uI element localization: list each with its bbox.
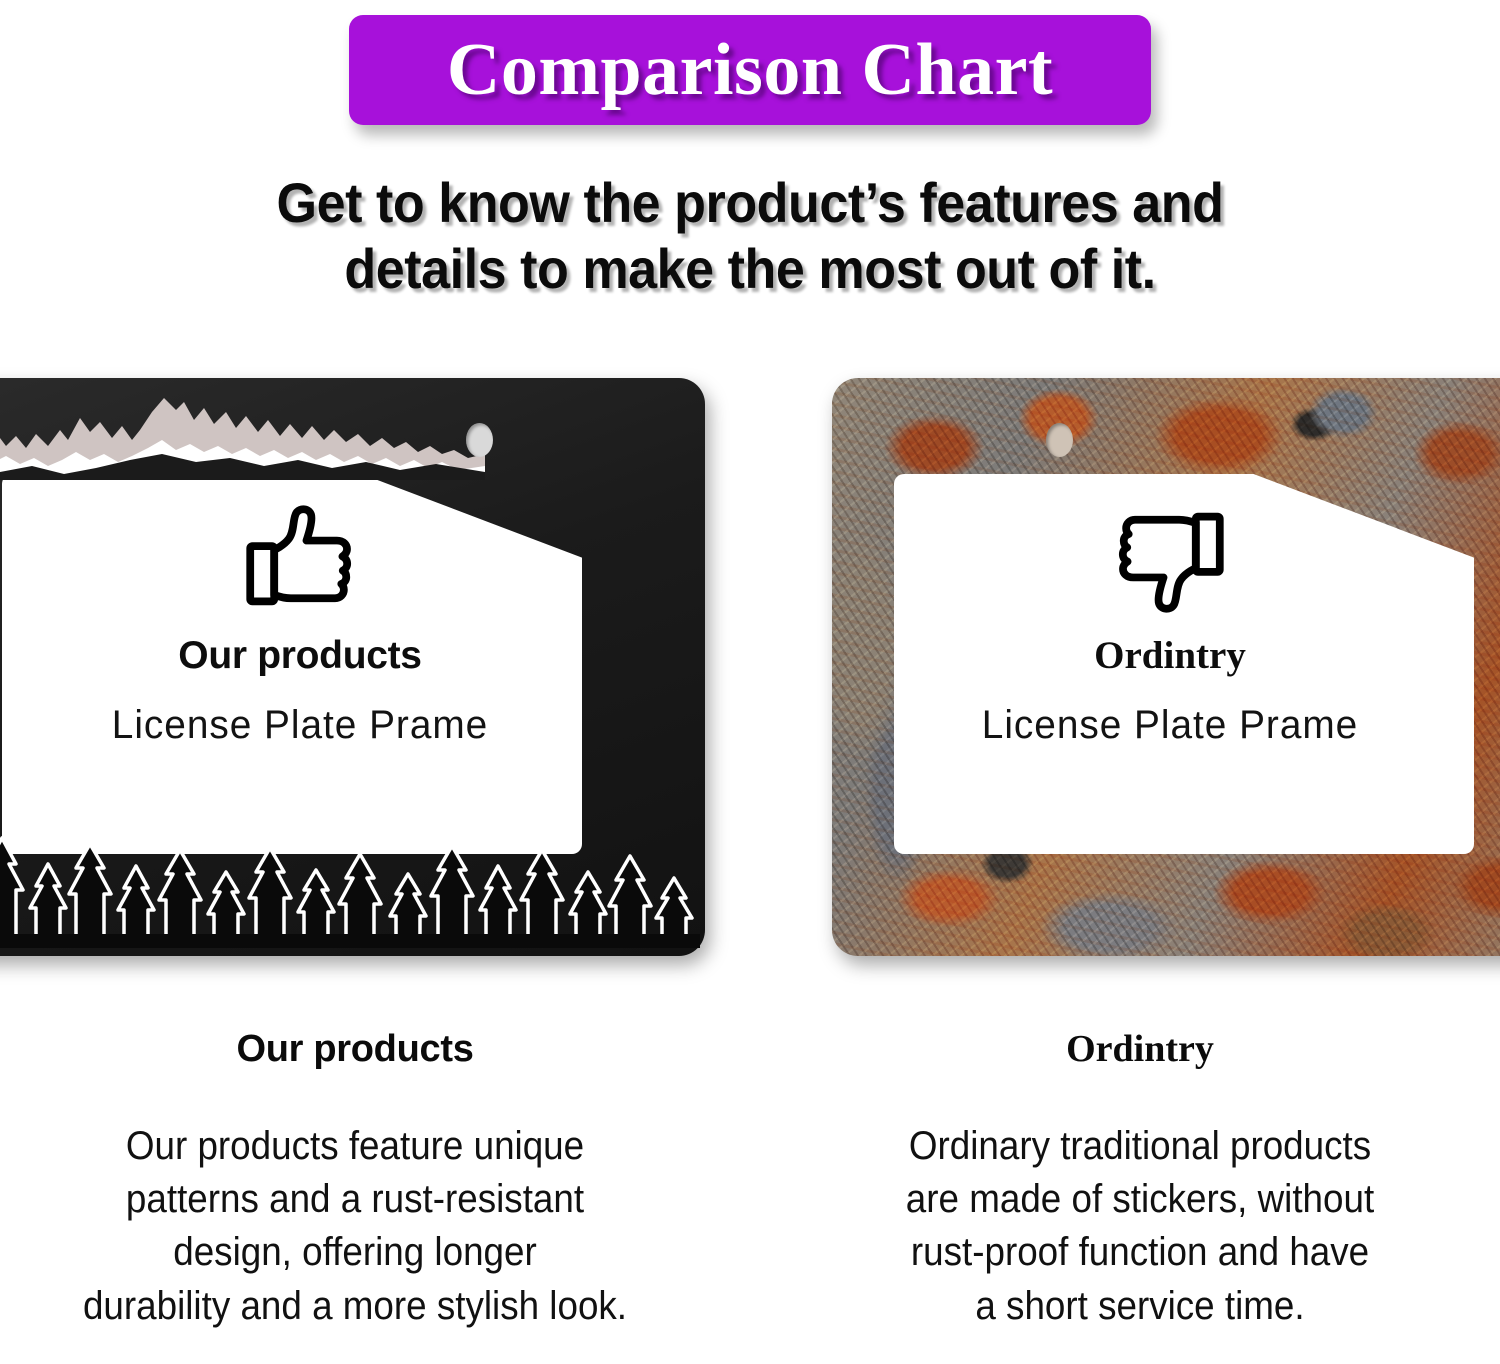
right-description-body: Ordinary traditional products are made o… <box>823 1120 1458 1333</box>
subtitle: Get to know the product’s features and d… <box>53 170 1448 302</box>
left-panel-content: Our products License Plate Prame <box>70 500 530 748</box>
thumbs-down-icon <box>1110 500 1230 618</box>
right-description-title: Ordintry <box>795 1030 1485 1068</box>
subtitle-line-1: Get to know the product’s features and <box>53 170 1448 236</box>
right-product-name: License Plate Prame <box>947 703 1393 748</box>
right-body-line-4: a short service time. <box>823 1280 1458 1333</box>
comparison-chart-title-badge: Comparison Chart <box>349 15 1151 125</box>
left-frame-screw-hole <box>466 423 493 457</box>
thumbs-up-icon <box>240 500 360 618</box>
right-description-column: Ordintry Ordinary traditional products a… <box>795 1030 1485 1333</box>
right-body-line-2: are made of stickers, without <box>823 1173 1458 1226</box>
left-description-title: Our products <box>10 1030 700 1068</box>
left-body-line-3: design, offering longer <box>38 1226 673 1279</box>
right-body-line-1: Ordinary traditional products <box>823 1120 1458 1173</box>
left-description-body: Our products feature unique patterns and… <box>38 1120 673 1333</box>
left-body-line-1: Our products feature unique <box>38 1120 673 1173</box>
subtitle-line-2: details to make the most out of it. <box>53 236 1448 302</box>
right-body-line-3: rust-proof function and have <box>823 1226 1458 1279</box>
page-title: Comparison Chart <box>447 33 1053 107</box>
left-product-name: License Plate Prame <box>77 703 523 748</box>
left-body-line-4: durability and a more stylish look. <box>38 1280 673 1333</box>
left-body-line-2: patterns and a rust-resistant <box>38 1173 673 1226</box>
right-panel-content: Ordintry License Plate Prame <box>940 500 1400 748</box>
right-brand-name: Ordintry <box>940 636 1400 677</box>
right-frame-screw-hole <box>1046 423 1073 457</box>
left-description-column: Our products Our products feature unique… <box>10 1030 700 1333</box>
left-brand-name: Our products <box>70 636 530 677</box>
